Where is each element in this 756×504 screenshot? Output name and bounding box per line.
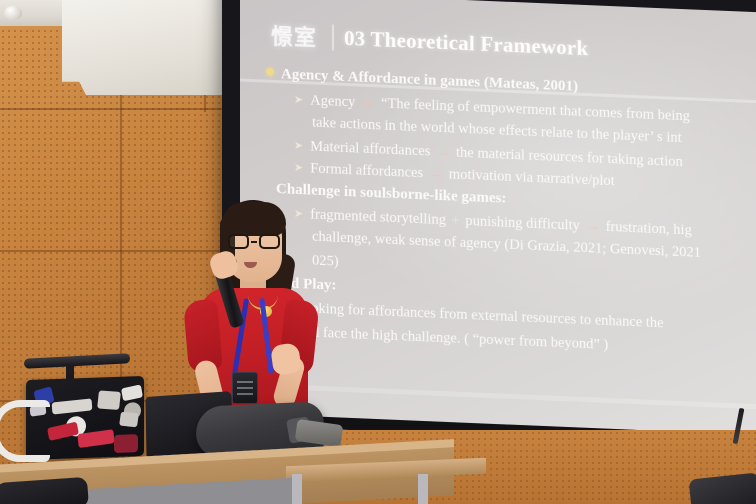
laptop-sticker	[121, 384, 143, 401]
laptop-sticker	[52, 398, 93, 414]
badge-text-line	[237, 393, 253, 395]
bullet-label: Agency	[310, 93, 355, 111]
laptop-sticker	[114, 434, 138, 453]
wall-seam	[0, 108, 250, 110]
bullet-text: motivation via narrative/plot	[449, 166, 615, 189]
bullet-text: the material resources for taking action	[456, 145, 683, 171]
chevron-right-icon: ➤	[294, 161, 303, 174]
glasses-bridge	[251, 241, 257, 243]
bullet-text: frustration, hig	[606, 219, 692, 239]
arrow-icon: →	[584, 218, 603, 235]
glasses-lens-right	[259, 234, 280, 249]
bullet-dot-icon	[266, 68, 274, 76]
laptop-sticker	[47, 422, 79, 441]
logo-divider	[332, 24, 334, 50]
arrow-icon: →	[427, 165, 446, 182]
desk-leg	[418, 474, 428, 504]
bullet-label: Formal affordances	[310, 161, 423, 182]
glasses-lens-left	[228, 234, 249, 249]
bullet-label: Material affordances	[310, 139, 430, 160]
presentation-photo: 憬室 03 Theoretical Framework Agency & Aff…	[0, 0, 756, 504]
chevron-right-icon: ➤	[294, 93, 303, 106]
badge-text-line	[237, 387, 253, 389]
white-chair	[0, 400, 50, 462]
desk-leg	[292, 474, 302, 504]
plus-icon: +	[450, 212, 462, 229]
slide-header: 憬室 03 Theoretical Framework	[266, 18, 756, 74]
arrow-icon: →	[434, 144, 453, 161]
laptop-sticker	[97, 390, 121, 410]
laptop-sticker	[119, 412, 139, 428]
chevron-right-icon: ➤	[294, 139, 303, 152]
name-badge	[232, 372, 258, 404]
bullet-mid: punishing difficulty	[465, 213, 580, 234]
ceiling-speaker-icon	[4, 6, 22, 20]
bullet-text: Agency & Affordance in games (Mateas, 20…	[281, 66, 578, 95]
glasses-icon	[228, 234, 280, 249]
slide-title: 03 Theoretical Framework	[344, 25, 588, 60]
arrow-icon: →	[359, 95, 378, 112]
brand-logo-icon: 憬室	[266, 18, 322, 54]
badge-text-line	[237, 381, 253, 383]
ceiling-soffit	[62, 0, 234, 95]
bullet-label: fragmented storytelling	[310, 207, 446, 229]
